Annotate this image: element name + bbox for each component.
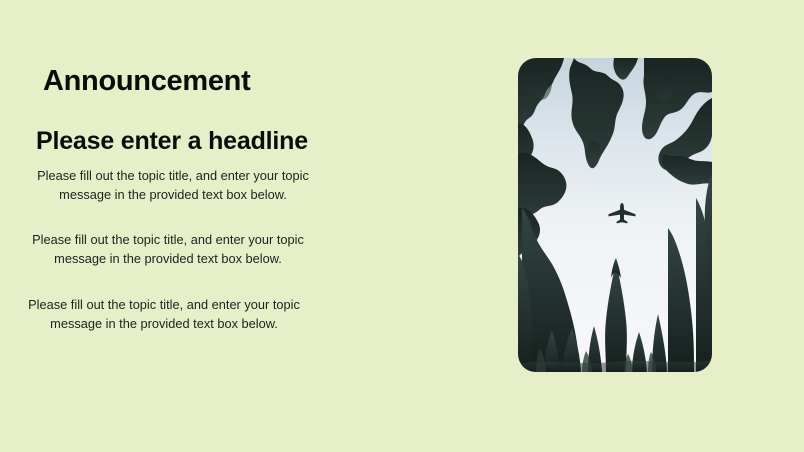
body-paragraph-3: Please fill out the topic title, and ent… — [12, 296, 316, 334]
forest-canopy-illustration — [518, 58, 712, 372]
body-paragraph-2: Please fill out the topic title, and ent… — [16, 231, 320, 269]
announcement-slide: Announcement Please enter a headline Ple… — [0, 0, 804, 452]
forest-canopy-airplane-photo — [518, 58, 712, 372]
page-title: Announcement — [43, 66, 250, 98]
headline-text: Please enter a headline — [36, 127, 308, 156]
text-column: Announcement Please enter a headline Ple… — [0, 0, 348, 452]
body-paragraph-1: Please fill out the topic title, and ent… — [23, 167, 323, 205]
